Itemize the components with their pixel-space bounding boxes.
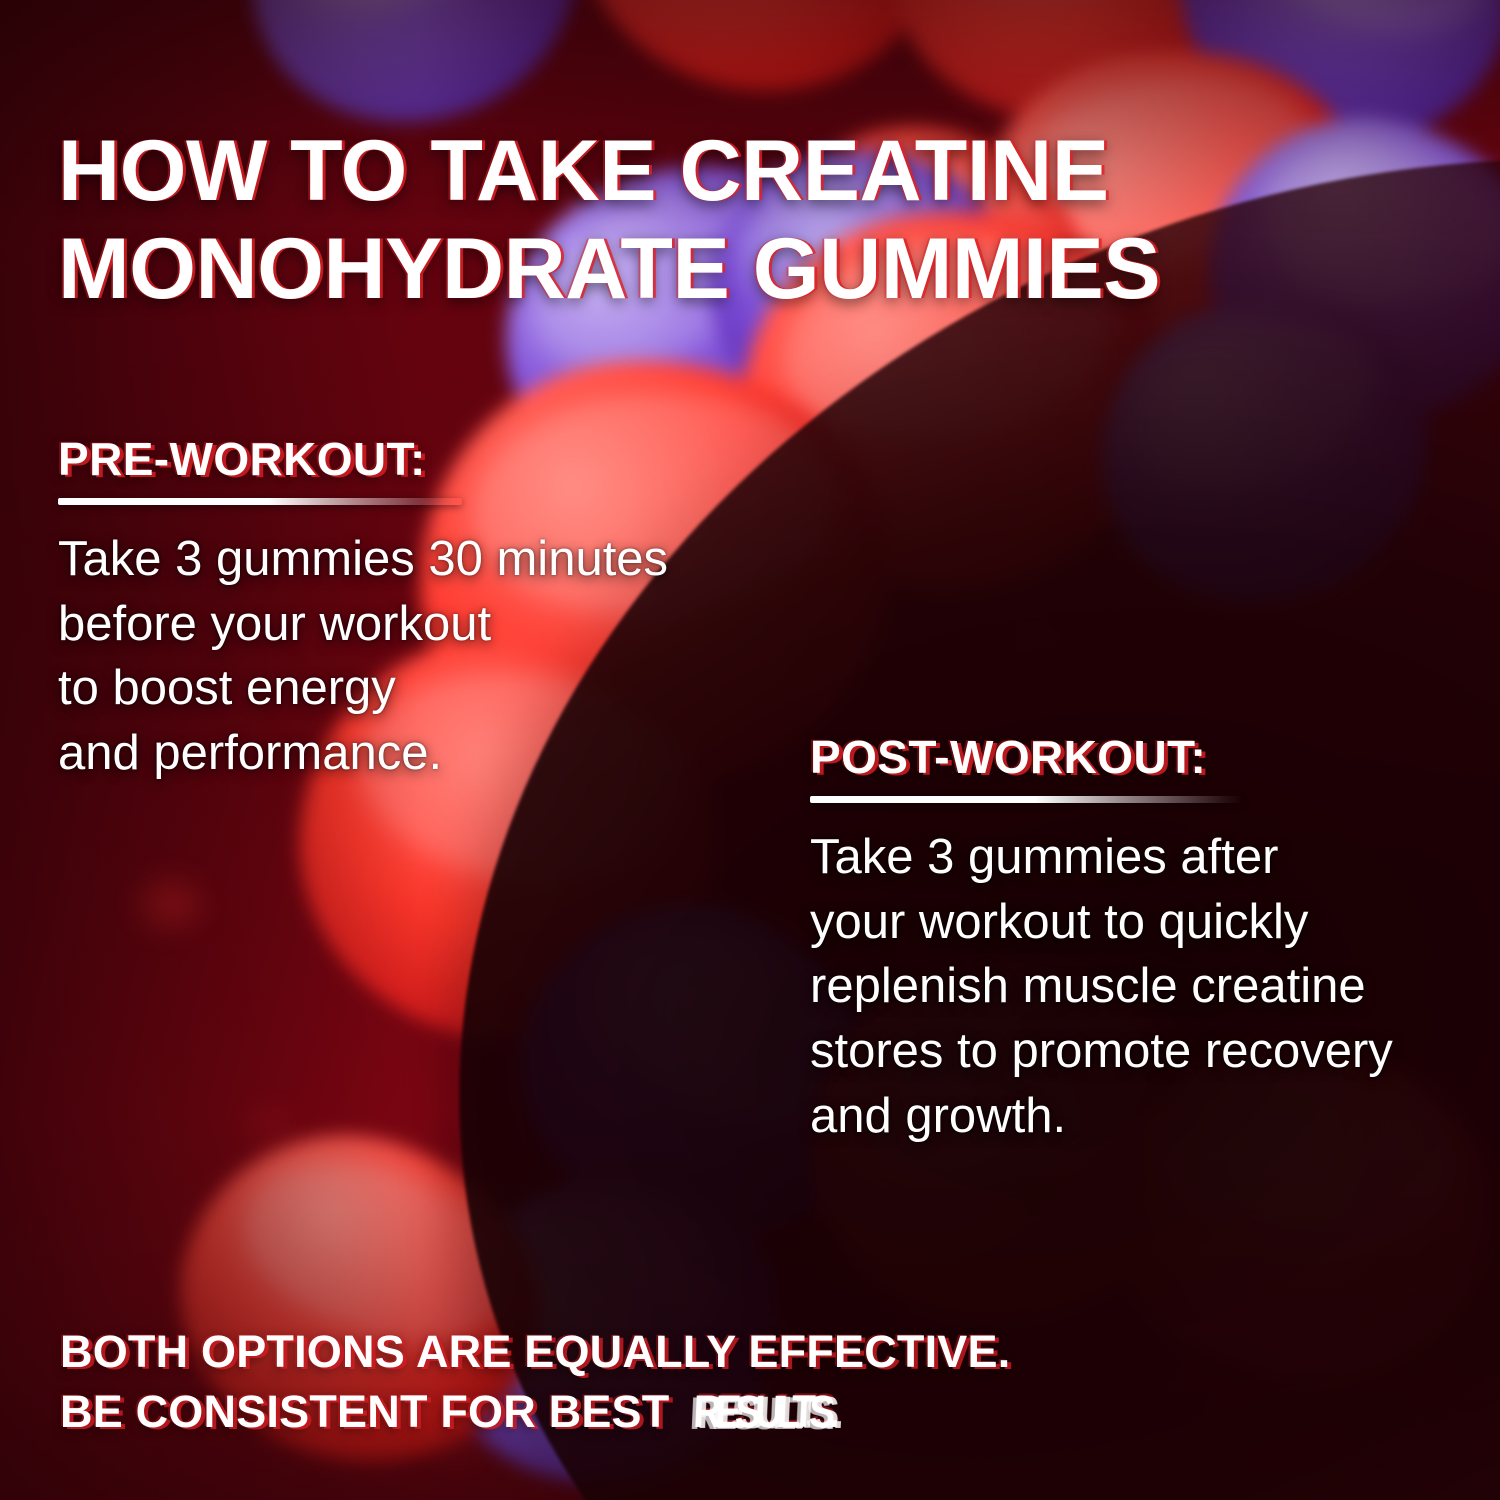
page-title: HOW TO TAKE CREATINE MONOHYDRATE GUMMIES [58,122,1478,318]
pre-workout-divider [58,498,462,505]
headline-line-2: MONOHYDRATE GUMMIES [58,220,1478,318]
footer-line-2-prefix: BE CONSISTENT FOR BEST [60,1386,682,1437]
pre-workout-body-line: to boost energy [58,656,818,721]
footer-callout: BOTH OPTIONS ARE EQUALLY EFFECTIVE. BE C… [60,1322,1440,1443]
post-workout-body-line: stores to promote recovery [810,1019,1490,1084]
post-workout-divider [810,796,1242,803]
section-post-workout: POST-WORKOUT: Take 3 gummies after your … [810,730,1490,1148]
promo-poster: HOW TO TAKE CREATINE MONOHYDRATE GUMMIES… [0,0,1500,1500]
post-workout-body-line: Take 3 gummies after [810,825,1490,890]
post-workout-body: Take 3 gummies after your workout to qui… [810,825,1490,1148]
pre-workout-body-line: Take 3 gummies 30 minutes [58,527,818,592]
pre-workout-title: PRE-WORKOUT: [58,432,818,486]
post-workout-title: POST-WORKOUT: [810,730,1490,784]
footer-line-1: BOTH OPTIONS ARE EQUALLY EFFECTIVE. [60,1322,1440,1382]
post-workout-body-line: and growth. [810,1084,1490,1149]
post-workout-body-line: replenish muscle creatine [810,954,1490,1019]
post-workout-body-line: your workout to quickly [810,890,1490,955]
pre-workout-body-line: before your workout [58,592,818,657]
pre-workout-body-line: and performance. [58,721,818,786]
footer-line-2-glitch-word: RESULTS. [692,1382,835,1442]
footer-line-2: BE CONSISTENT FOR BEST RESULTS. [60,1382,1440,1442]
pre-workout-body: Take 3 gummies 30 minutes before your wo… [58,527,818,786]
section-pre-workout: PRE-WORKOUT: Take 3 gummies 30 minutes b… [58,432,818,786]
headline-line-1: HOW TO TAKE CREATINE [58,123,1109,219]
